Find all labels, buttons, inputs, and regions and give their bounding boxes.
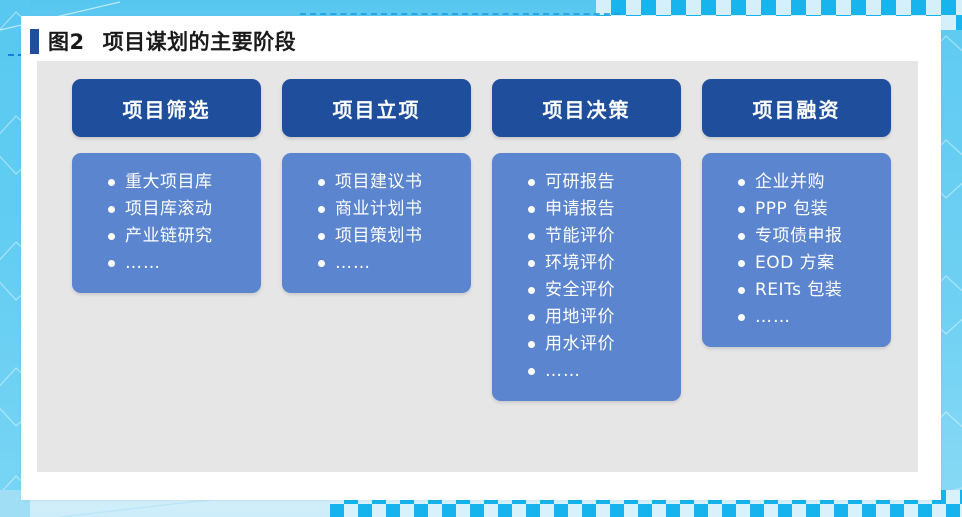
bullet-icon	[528, 179, 535, 186]
stage-item-list-2: 项目建议书 商业计划书 项目策划书 ……	[282, 169, 471, 277]
stage-columns: 项目筛选 重大项目库 项目库滚动 产业链研究 …… 项目立项	[72, 79, 912, 401]
bullet-icon	[318, 179, 325, 186]
list-item[interactable]: 商业计划书	[318, 196, 471, 223]
list-item[interactable]: 重大项目库	[108, 169, 261, 196]
stage-column-4: 项目融资 企业并购 PPP 包装 专项债申报 EOD 方案 REITs 包装 ……	[702, 79, 891, 401]
content-card: 图2项目谋划的主要阶段 项目筛选 重大项目库 项目库滚动 产业链研究 ……	[21, 16, 941, 500]
list-item[interactable]: 项目库滚动	[108, 196, 261, 223]
stage-column-1: 项目筛选 重大项目库 项目库滚动 产业链研究 ……	[72, 79, 261, 401]
bullet-icon	[528, 260, 535, 267]
stage-header-4[interactable]: 项目融资	[702, 79, 891, 137]
bullet-icon	[318, 233, 325, 240]
bullet-icon	[738, 206, 745, 213]
title-bar-marker-icon	[30, 29, 39, 54]
right-cyan-band	[940, 0, 962, 517]
stage-item-list-4: 企业并购 PPP 包装 专项债申报 EOD 方案 REITs 包装 ……	[702, 169, 891, 331]
list-item[interactable]: 项目建议书	[318, 169, 471, 196]
stage-header-1[interactable]: 项目筛选	[72, 79, 261, 137]
diagram-panel: 项目筛选 重大项目库 项目库滚动 产业链研究 …… 项目立项	[37, 61, 918, 472]
list-item[interactable]: 节能评价	[528, 223, 681, 250]
bullet-icon	[738, 287, 745, 294]
list-item[interactable]: 环境评价	[528, 250, 681, 277]
list-item[interactable]: 产业链研究	[108, 223, 261, 250]
bullet-icon	[528, 287, 535, 294]
bullet-icon	[528, 368, 535, 375]
figure-number: 图2	[48, 30, 85, 54]
list-item[interactable]: 企业并购	[738, 169, 891, 196]
page-title: 图2项目谋划的主要阶段	[30, 25, 296, 57]
bullet-icon	[738, 314, 745, 321]
list-item[interactable]: 申请报告	[528, 196, 681, 223]
stage-body-4: 企业并购 PPP 包装 专项债申报 EOD 方案 REITs 包装 ……	[702, 153, 891, 347]
bullet-icon	[528, 206, 535, 213]
title-heading: 项目谋划的主要阶段	[103, 30, 297, 54]
list-item[interactable]: ……	[318, 250, 471, 277]
list-item[interactable]: 用地评价	[528, 304, 681, 331]
bullet-icon	[108, 179, 115, 186]
list-item[interactable]: 用水评价	[528, 331, 681, 358]
list-item[interactable]: 可研报告	[528, 169, 681, 196]
list-item[interactable]: EOD 方案	[738, 250, 891, 277]
bullet-icon	[528, 314, 535, 321]
list-item[interactable]: ……	[528, 358, 681, 385]
stage-body-2: 项目建议书 商业计划书 项目策划书 ……	[282, 153, 471, 293]
bullet-icon	[738, 260, 745, 267]
list-item[interactable]: 安全评价	[528, 277, 681, 304]
stage-header-3[interactable]: 项目决策	[492, 79, 681, 137]
dashed-accent-line	[300, 13, 620, 15]
list-item[interactable]: 项目策划书	[318, 223, 471, 250]
bullet-icon	[738, 179, 745, 186]
list-item[interactable]: PPP 包装	[738, 196, 891, 223]
stage-item-list-1: 重大项目库 项目库滚动 产业链研究 ……	[72, 169, 261, 277]
stage-body-3: 可研报告 申请报告 节能评价 环境评价 安全评价 用地评价 用水评价 ……	[492, 153, 681, 401]
bullet-icon	[108, 233, 115, 240]
bullet-icon	[528, 341, 535, 348]
bullet-icon	[108, 260, 115, 267]
bullet-icon	[108, 206, 115, 213]
stage-column-3: 项目决策 可研报告 申请报告 节能评价 环境评价 安全评价 用地评价 用水评价 …	[492, 79, 681, 401]
bullet-icon	[318, 260, 325, 267]
stage-body-1: 重大项目库 项目库滚动 产业链研究 ……	[72, 153, 261, 293]
bullet-icon	[528, 233, 535, 240]
list-item[interactable]: REITs 包装	[738, 277, 891, 304]
list-item[interactable]: ……	[738, 304, 891, 331]
list-item[interactable]: 专项债申报	[738, 223, 891, 250]
stage-item-list-3: 可研报告 申请报告 节能评价 环境评价 安全评价 用地评价 用水评价 ……	[492, 169, 681, 385]
bullet-icon	[738, 233, 745, 240]
bullet-icon	[318, 206, 325, 213]
slide-canvas: 图2项目谋划的主要阶段 项目筛选 重大项目库 项目库滚动 产业链研究 ……	[0, 0, 962, 517]
list-item[interactable]: ……	[108, 250, 261, 277]
stage-header-2[interactable]: 项目立项	[282, 79, 471, 137]
stage-column-2: 项目立项 项目建议书 商业计划书 项目策划书 ……	[282, 79, 471, 401]
